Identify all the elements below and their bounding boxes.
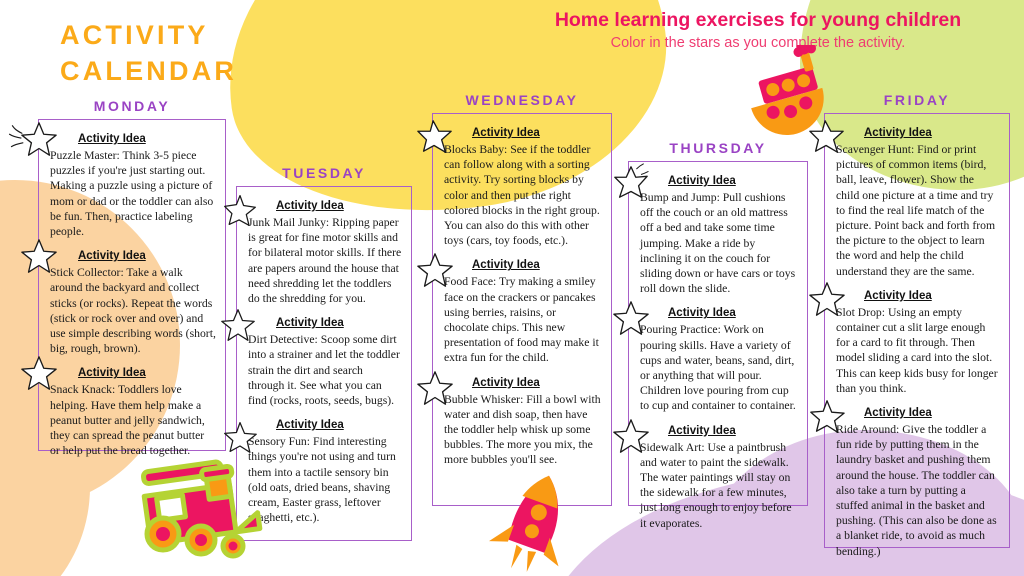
activity-item[interactable]: Activity Idea Stick Collector: Take a wa…: [50, 246, 216, 356]
day-box-wednesday[interactable]: Activity Idea Blocks Baby: See if the to…: [432, 113, 612, 506]
activity-item[interactable]: Activity Idea Scavenger Hunt: Find or pr…: [836, 123, 1000, 279]
day-label-wednesday: Wednesday: [432, 92, 612, 108]
activity-calendar-page: ACTIVITY CALENDAR Home learning exercise…: [0, 0, 1024, 576]
day-column-tuesday: Tuesday Activity Idea Junk Mail Junky: R…: [236, 165, 412, 541]
activity-text: Ride Around: Give the toddler a fun ride…: [836, 422, 1000, 559]
activity-title: Activity Idea: [276, 200, 344, 212]
activity-text: Sidewalk Art: Use a paintbrush and water…: [640, 440, 798, 531]
activity-title: Activity Idea: [864, 127, 932, 139]
activity-text: Scavenger Hunt: Find or print pictures o…: [836, 142, 1000, 279]
day-label-friday: Friday: [824, 92, 1010, 108]
activity-title: Activity Idea: [668, 175, 736, 187]
activity-text: Bubble Whisker: Fill a bowl with water a…: [444, 392, 602, 468]
activity-item[interactable]: Activity Idea Bubble Whisker: Fill a bow…: [444, 373, 602, 468]
activity-text: Puzzle Master: Think 3-5 piece puzzles i…: [50, 148, 216, 239]
activity-item[interactable]: Activity Idea Puzzle Master: Think 3-5 p…: [50, 129, 216, 239]
day-column-thursday: Thursday Activity Idea Bump and Jump: Pu…: [628, 140, 808, 506]
page-title: ACTIVITY CALENDAR: [60, 18, 390, 89]
activity-title: Activity Idea: [472, 259, 540, 271]
day-column-friday: Friday Activity Idea Scavenger Hunt: Fin…: [824, 92, 1010, 548]
activity-item[interactable]: Activity Idea Snack Knack: Toddlers love…: [50, 363, 216, 458]
headline-block: Home learning exercises for young childr…: [498, 8, 1018, 53]
activity-title: Activity Idea: [668, 307, 736, 319]
activity-text: Bump and Jump: Pull cushions off the cou…: [640, 190, 798, 296]
day-box-monday[interactable]: Activity Idea Puzzle Master: Think 3-5 p…: [38, 119, 226, 451]
activity-text: Sensory Fun: Find interesting things you…: [248, 434, 402, 525]
day-box-friday[interactable]: Activity Idea Scavenger Hunt: Find or pr…: [824, 113, 1010, 548]
day-box-tuesday[interactable]: Activity Idea Junk Mail Junky: Ripping p…: [236, 186, 412, 541]
activity-title: Activity Idea: [864, 407, 932, 419]
activity-item[interactable]: Activity Idea Sensory Fun: Find interest…: [248, 415, 402, 525]
day-label-tuesday: Tuesday: [236, 165, 412, 181]
activity-item[interactable]: Activity Idea Pouring Practice: Work on …: [640, 303, 798, 413]
day-column-monday: Monday Activity Idea Puzzle Master: Thin…: [38, 98, 226, 451]
activity-text: Slot Drop: Using an empty container cut …: [836, 305, 1000, 396]
page-title-line-2: CALENDAR: [60, 54, 390, 90]
activity-title: Activity Idea: [78, 367, 146, 379]
activity-title: Activity Idea: [78, 250, 146, 262]
activity-title: Activity Idea: [472, 127, 540, 139]
day-label-thursday: Thursday: [628, 140, 808, 156]
activity-text: Junk Mail Junky: Ripping paper is great …: [248, 215, 402, 306]
day-box-thursday[interactable]: Activity Idea Bump and Jump: Pull cushio…: [628, 161, 808, 506]
activity-item[interactable]: Activity Idea Slot Drop: Using an empty …: [836, 286, 1000, 396]
page-title-line-1: ACTIVITY: [60, 18, 390, 54]
activity-item[interactable]: Activity Idea Food Face: Try making a sm…: [444, 255, 602, 365]
activity-item[interactable]: Activity Idea Bump and Jump: Pull cushio…: [640, 171, 798, 296]
activity-item[interactable]: Activity Idea Dirt Detective: Scoop some…: [248, 313, 402, 408]
activity-item[interactable]: Activity Idea Blocks Baby: See if the to…: [444, 123, 602, 248]
activity-text: Snack Knack: Toddlers love helping. Have…: [50, 382, 216, 458]
activity-title: Activity Idea: [668, 425, 736, 437]
activity-item[interactable]: Activity Idea Ride Around: Give the todd…: [836, 403, 1000, 559]
activity-text: Blocks Baby: See if the toddler can foll…: [444, 142, 602, 248]
activity-text: Pouring Practice: Work on pouring skills…: [640, 322, 798, 413]
activity-title: Activity Idea: [864, 290, 932, 302]
activity-title: Activity Idea: [78, 133, 146, 145]
activity-title: Activity Idea: [472, 377, 540, 389]
activity-text: Stick Collector: Take a walk around the …: [50, 265, 216, 356]
day-label-monday: Monday: [38, 98, 226, 114]
activity-title: Activity Idea: [276, 317, 344, 329]
activity-text: Food Face: Try making a smiley face on t…: [444, 274, 602, 365]
subheadline: Color in the stars as you complete the a…: [498, 34, 1018, 53]
activity-title: Activity Idea: [276, 419, 344, 431]
activity-item[interactable]: Activity Idea Sidewalk Art: Use a paintb…: [640, 421, 798, 531]
activity-item[interactable]: Activity Idea Junk Mail Junky: Ripping p…: [248, 196, 402, 306]
day-column-wednesday: Wednesday Activity Idea Blocks Baby: See…: [432, 92, 612, 506]
activity-text: Dirt Detective: Scoop some dirt into a s…: [248, 332, 402, 408]
headline: Home learning exercises for young childr…: [498, 8, 1018, 32]
